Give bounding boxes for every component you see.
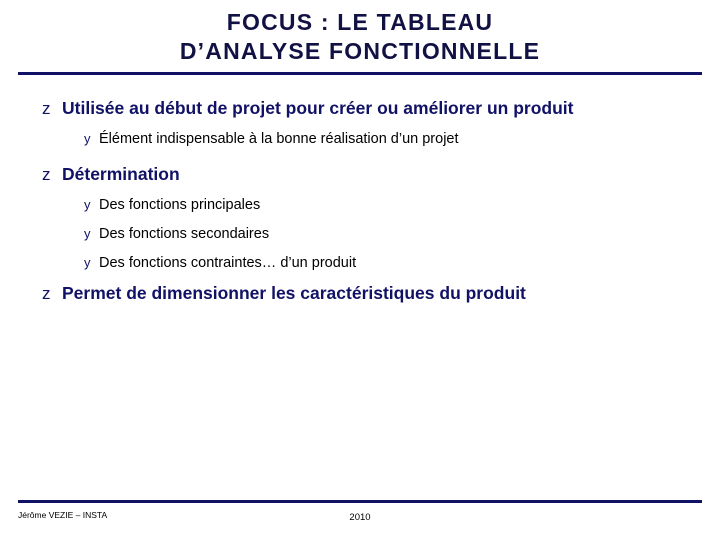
bullet-item-level2: y Élément indispensable à la bonne réali…	[0, 128, 720, 150]
bullet-item-level2: y Des fonctions secondaires	[0, 223, 720, 245]
footer-divider	[18, 500, 702, 503]
title-line-2: D’ANALYSE FONCTIONNELLE	[0, 37, 720, 66]
bullet-text: Des fonctions secondaires	[99, 223, 269, 245]
square-bullet-icon: z	[42, 97, 62, 121]
bullet-text: Des fonctions contraintes… d’un produit	[99, 252, 356, 274]
bullet-item-level1: z Utilisée au début de projet pour créer…	[0, 96, 720, 121]
bullet-text: Détermination	[62, 162, 180, 186]
bullet-item-level1: z Détermination	[0, 162, 720, 187]
title-line-1: FOCUS : LE TABLEAU	[0, 8, 720, 37]
diamond-bullet-icon: y	[84, 252, 99, 274]
title-divider-top	[18, 72, 702, 75]
diamond-bullet-icon: y	[84, 223, 99, 245]
bullet-item-level2: y Des fonctions principales	[0, 194, 720, 216]
slide-body: z Utilisée au début de projet pour créer…	[0, 96, 720, 308]
bullet-text: Permet de dimensionner les caractéristiq…	[62, 281, 526, 305]
slide-title: FOCUS : LE TABLEAU D’ANALYSE FONCTIONNEL…	[0, 8, 720, 66]
bullet-text: Utilisée au début de projet pour créer o…	[62, 96, 573, 120]
bullet-text: Élément indispensable à la bonne réalisa…	[99, 128, 459, 150]
bullet-item-level2: y Des fonctions contraintes… d’un produi…	[0, 252, 720, 274]
square-bullet-icon: z	[42, 163, 62, 187]
bullet-text: Des fonctions principales	[99, 194, 260, 216]
square-bullet-icon: z	[42, 282, 62, 306]
diamond-bullet-icon: y	[84, 128, 99, 150]
footer-year: 2010	[0, 512, 720, 523]
bullet-item-level1: z Permet de dimensionner les caractérist…	[0, 281, 720, 306]
slide: FOCUS : LE TABLEAU D’ANALYSE FONCTIONNEL…	[0, 0, 720, 540]
diamond-bullet-icon: y	[84, 194, 99, 216]
